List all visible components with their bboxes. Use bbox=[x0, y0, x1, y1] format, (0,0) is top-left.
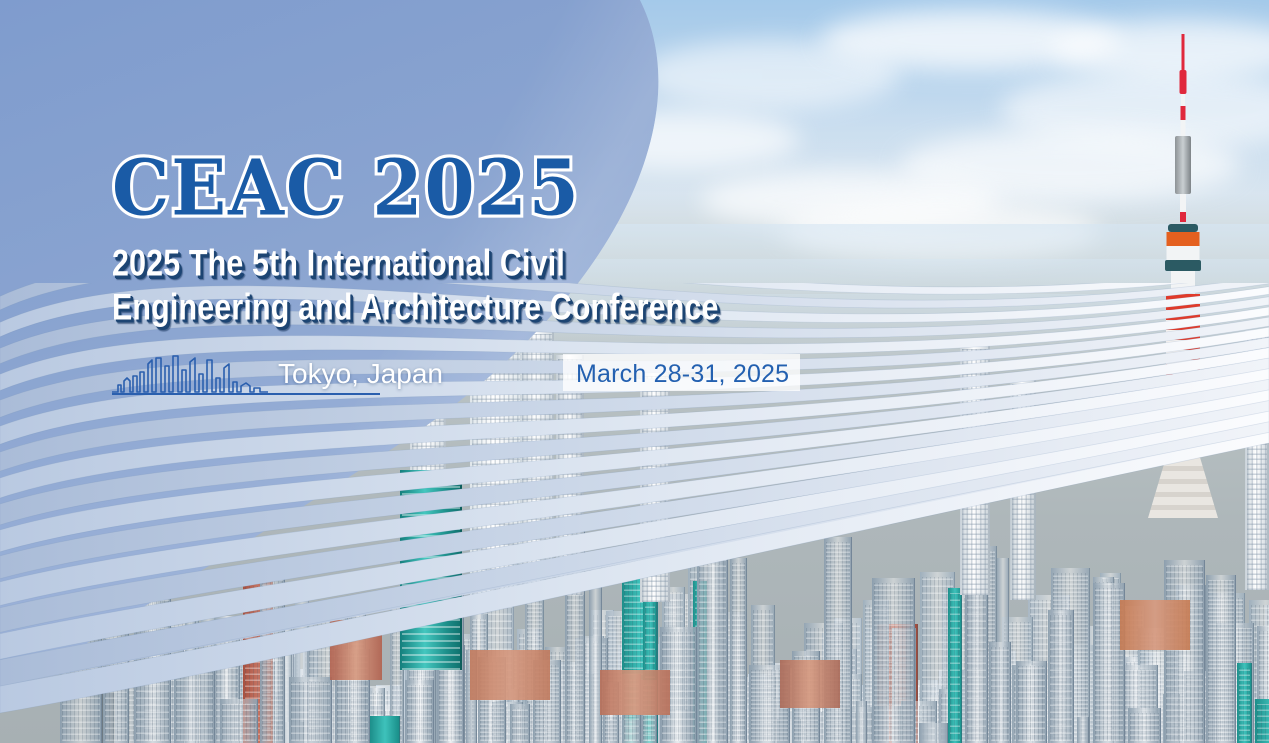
title-line-2: Engineering and Architecture Conference bbox=[112, 286, 811, 330]
banner-content: CEAC 2025 2025 The 5th International Civ… bbox=[0, 0, 1269, 743]
conference-banner: CEAC 2025 2025 The 5th International Civ… bbox=[0, 0, 1269, 743]
page-title: 2025 The 5th International Civil Enginee… bbox=[112, 242, 811, 329]
location-underline bbox=[112, 393, 380, 395]
city-skyline-icon bbox=[110, 352, 270, 394]
conference-dates: March 28-31, 2025 bbox=[576, 360, 789, 389]
conference-logo: CEAC 2025 bbox=[112, 150, 581, 226]
title-line-1: 2025 The 5th International Civil bbox=[112, 242, 811, 286]
location-label: Tokyo, Japan bbox=[278, 358, 443, 390]
